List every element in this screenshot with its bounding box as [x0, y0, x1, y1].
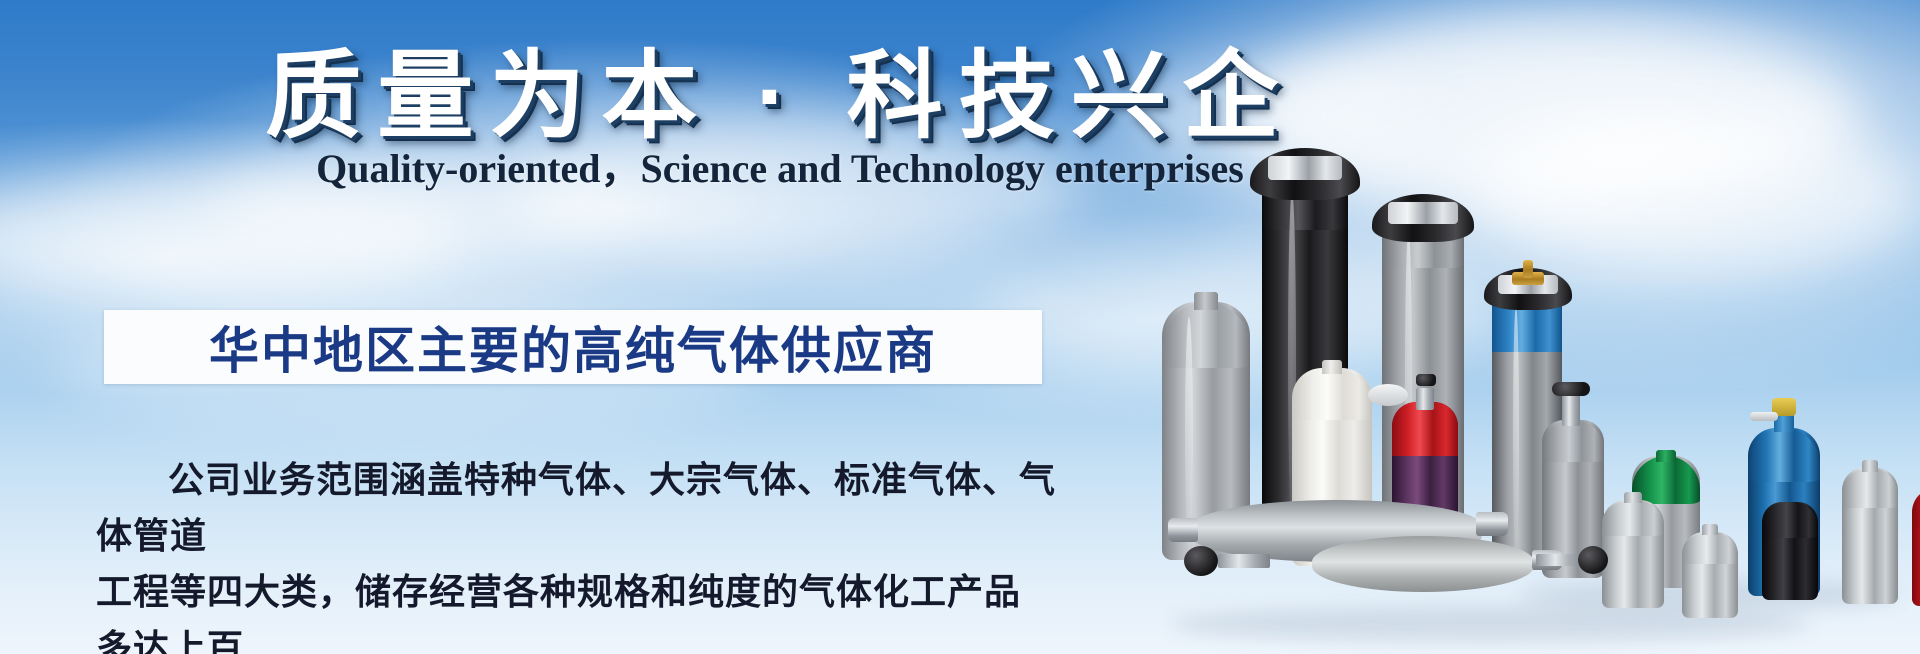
tagline-text: 华中地区主要的高纯气体供应商	[209, 311, 937, 383]
chrome-valve-body	[1562, 394, 1580, 426]
aluminium-small-cylinder	[1682, 532, 1738, 618]
horizontal-grey-tank	[1312, 536, 1534, 592]
pressure-gauge	[1368, 384, 1408, 406]
cylinder-neck	[1656, 450, 1676, 462]
tank-handwheel	[1184, 546, 1218, 576]
promo-banner: 质量为本 · 科技兴企 Quality-oriented，Science and…	[0, 0, 1920, 654]
valve-handwheel	[1552, 382, 1590, 396]
aluminium-cylinder	[1842, 468, 1898, 604]
black-small-cylinder	[1762, 502, 1818, 600]
chrome-valve-body	[1416, 388, 1434, 410]
valve-lever	[1750, 412, 1778, 421]
banner-body-copy: 公司业务范围涵盖特种气体、大宗气体、标准气体、气体管道 工程等四大类，储存经营各…	[96, 452, 1056, 654]
red-cylinder	[1912, 488, 1920, 606]
tank-end-cap	[1168, 518, 1198, 542]
cloud-shape	[0, 178, 460, 298]
cylinder-neck	[1702, 524, 1718, 535]
valve-handwheel	[1416, 374, 1436, 386]
tank-valve-stem	[1218, 554, 1270, 568]
tank-handwheel	[1578, 546, 1608, 574]
black-valve-guard	[1372, 194, 1474, 242]
body-line-2: 工程等四大类，储存经营各种规格和纯度的气体化工产品多达上百	[96, 564, 1056, 654]
cylinder-neck	[1624, 492, 1642, 503]
aluminium-short-cylinder	[1602, 500, 1664, 608]
black-valve-guard	[1250, 148, 1360, 200]
cylinder-neck	[1194, 292, 1218, 310]
gas-cylinder-group-photo	[1140, 150, 1920, 654]
brass-valve-stem	[1523, 260, 1533, 278]
tank-valve-stem	[1536, 554, 1584, 566]
tank-end-cap	[1476, 512, 1508, 536]
tagline-box: 华中地区主要的高纯气体供应商	[104, 310, 1042, 384]
cylinder-neck	[1862, 460, 1878, 472]
body-line-1: 公司业务范围涵盖特种气体、大宗气体、标准气体、气体管道	[96, 452, 1056, 564]
cylinder-neck	[1322, 360, 1342, 374]
